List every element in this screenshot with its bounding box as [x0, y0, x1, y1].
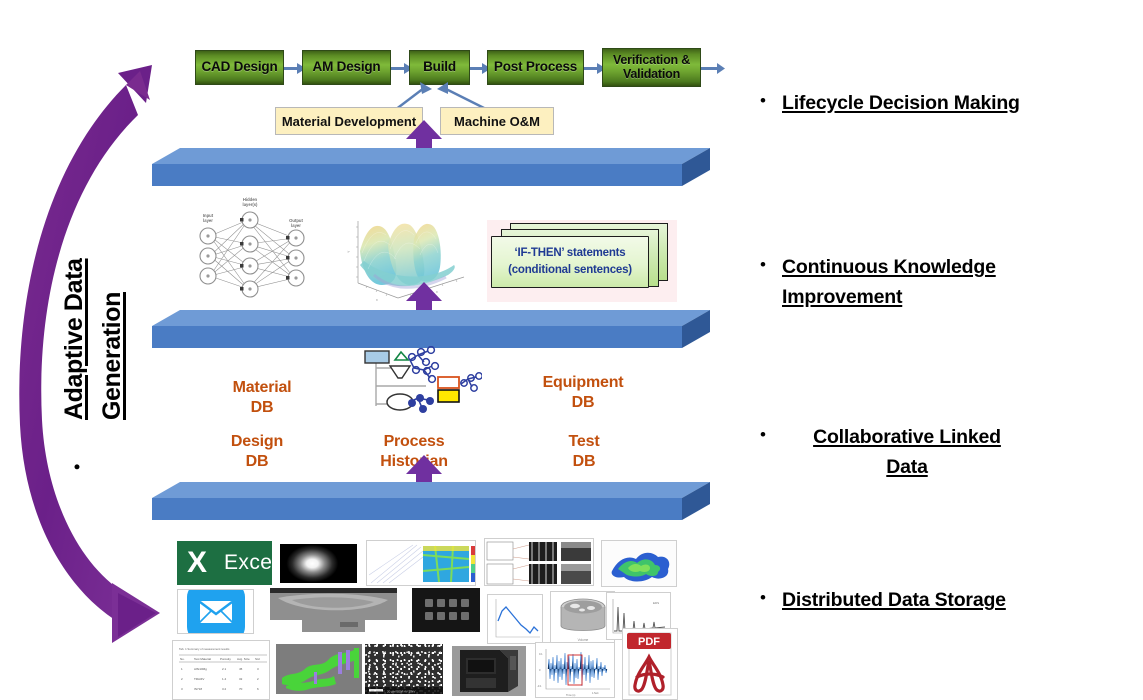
- db-label-design-line1: Design: [207, 432, 307, 452]
- svg-text:Time (s): Time (s): [566, 693, 576, 697]
- svg-text:x: x: [376, 298, 378, 302]
- svg-text:0.1: 0.1: [539, 652, 543, 656]
- svg-text:Porosity: Porosity: [220, 657, 231, 661]
- slide-canvas: Adaptive Data Generation • CAD Design AM…: [0, 0, 1143, 700]
- svg-text:3: 3: [257, 667, 259, 671]
- svg-text:1: 1: [181, 667, 183, 671]
- db-label-design-line2: DB: [207, 452, 307, 472]
- if-then-line2: (conditional sentences): [508, 262, 632, 279]
- process-box-verification-line1: Verification &: [610, 54, 693, 67]
- adaptive-label-bullet: •: [68, 464, 86, 470]
- bullet-dot-1: •: [760, 92, 782, 109]
- adaptive-data-generation-label-2: Generation: [98, 292, 128, 420]
- thumb-am-machine-photo[interactable]: [452, 646, 526, 696]
- process-box-cad-design[interactable]: CAD Design: [195, 50, 284, 85]
- neural-network-diagram: Inputlayer Hiddenlayer(s) Outputlayer: [186, 196, 318, 302]
- svg-text:3: 3: [181, 687, 183, 691]
- process-historian-graphic: [352, 346, 482, 416]
- db-label-equipment-line1: Equipment: [528, 373, 638, 393]
- svg-text:Tab. 1 Summary of measurement: Tab. 1 Summary of measurement results: [179, 647, 230, 651]
- bullet-text-2-line2: Improvement: [782, 282, 996, 312]
- bullet-continuous-knowledge-improvement[interactable]: • Continuous Knowledge Improvement: [760, 252, 1060, 312]
- platform-slab-2: [152, 310, 710, 350]
- svg-text:3.2: 3.2: [222, 687, 227, 691]
- bullet-text-4: Distributed Data Storage: [782, 585, 1006, 615]
- db-label-process-line1: Process: [359, 432, 469, 452]
- svg-text:layer: layer: [203, 218, 213, 223]
- excel-x-glyph: X: [187, 546, 207, 580]
- svg-text:-0.1: -0.1: [537, 684, 542, 688]
- process-box-build-label: Build: [420, 60, 459, 74]
- thumb-thermal-simulation-part[interactable]: [601, 540, 677, 587]
- thumb-excel-logo[interactable]: X Excel: [177, 541, 272, 585]
- process-box-post-process[interactable]: Post Process: [487, 50, 584, 85]
- svg-text:PDF: PDF: [638, 636, 660, 648]
- process-box-build[interactable]: Build: [409, 50, 470, 85]
- bullet-dot-4: •: [760, 589, 782, 606]
- support-box-material-development[interactable]: Material Development: [275, 107, 423, 135]
- db-label-material: Material DB: [212, 378, 312, 417]
- if-then-card-front[interactable]: ‘IF-THEN’ statements (conditional senten…: [491, 236, 649, 288]
- mail-rounded-square: [187, 589, 245, 634]
- svg-text:layer: layer: [291, 223, 301, 228]
- thumb-ct-cross-section[interactable]: [270, 588, 397, 632]
- bullet-text-3-line2: Data: [782, 452, 1032, 482]
- db-label-design: Design DB: [207, 432, 307, 471]
- thumb-melt-pool-image[interactable]: [280, 544, 357, 583]
- thumb-pdf-icon[interactable]: PDF: [622, 628, 678, 700]
- support-box-machine-om[interactable]: Machine O&M: [440, 107, 554, 135]
- thumb-data-table-thumb[interactable]: Tab. 1 Summary of measurement results No…: [172, 640, 270, 700]
- thumb-microstructure-montage[interactable]: [484, 538, 594, 586]
- process-box-am-design[interactable]: AM Design: [302, 50, 391, 85]
- svg-text:2.1: 2.1: [222, 667, 227, 671]
- db-label-test: Test DB: [534, 432, 634, 471]
- svg-text:EDS: EDS: [653, 601, 659, 605]
- thumb-tensile-coupons-photo[interactable]: [412, 588, 480, 632]
- thumb-porosity-map[interactable]: [276, 644, 362, 694]
- thumb-scan-path-plot[interactable]: [366, 540, 476, 586]
- svg-text:Std: Std: [255, 657, 260, 661]
- adaptive-label-line2: Generation: [98, 292, 126, 420]
- svg-text:1.4: 1.4: [222, 677, 227, 681]
- thumb-line-chart-thumb[interactable]: [487, 594, 543, 644]
- db-label-test-line1: Test: [534, 432, 634, 452]
- svg-text:45: 45: [239, 667, 243, 671]
- svg-text:2: 2: [257, 677, 259, 681]
- svg-text:20 µm SEM HV 15kV: 20 µm SEM HV 15kV: [387, 690, 415, 694]
- bullet-distributed-data-storage[interactable]: • Distributed Data Storage: [760, 585, 1110, 615]
- bullet-dot-3: •: [760, 426, 782, 443]
- db-label-material-line1: Material: [212, 378, 312, 398]
- process-box-cad-design-label: CAD Design: [198, 60, 280, 74]
- svg-text:32: 32: [239, 677, 243, 681]
- svg-text:Avg. Size: Avg. Size: [237, 657, 250, 661]
- process-box-verification-validation[interactable]: Verification & Validation: [602, 48, 701, 87]
- bullet-lifecycle-decision-making[interactable]: • Lifecycle Decision Making: [760, 88, 1110, 118]
- db-label-test-line2: DB: [534, 452, 634, 472]
- svg-text:layer(s): layer(s): [243, 202, 259, 207]
- svg-text:70: 70: [239, 687, 243, 691]
- bullet-text-1: Lifecycle Decision Making: [782, 88, 1020, 118]
- bullet-collaborative-linked-data[interactable]: • Collaborative Linked Data: [760, 422, 1050, 482]
- svg-text:AlSi10Mg: AlSi10Mg: [194, 667, 207, 671]
- thumb-email-icon[interactable]: [177, 589, 254, 634]
- db-label-material-line2: DB: [212, 398, 312, 418]
- svg-text:IN718: IN718: [194, 687, 202, 691]
- thumb-sem-micrograph[interactable]: 20 µm SEM HV 15kV: [365, 644, 443, 694]
- bullet-text-3-line1: Collaborative Linked: [782, 422, 1032, 452]
- db-label-equipment-line2: DB: [528, 393, 638, 413]
- platform-slab-3: [152, 482, 710, 522]
- process-box-post-process-label: Post Process: [491, 60, 580, 74]
- if-then-line1: ‘IF-THEN’ statements: [508, 245, 632, 262]
- svg-text:6: 6: [257, 687, 259, 691]
- thumb-acoustic-signal-plot[interactable]: 0.10-0.1 Time (s)1.5e4: [535, 642, 615, 698]
- excel-wordmark: Excel: [224, 551, 272, 575]
- support-box-material-development-label: Material Development: [282, 114, 416, 129]
- adaptive-data-generation-label: Adaptive Data: [60, 258, 90, 420]
- db-label-equipment: Equipment DB: [528, 373, 638, 412]
- svg-text:1.5e4: 1.5e4: [592, 691, 599, 695]
- bullet-text-2-line1: Continuous Knowledge: [782, 252, 996, 282]
- if-then-card-stack: ‘IF-THEN’ statements (conditional senten…: [487, 220, 677, 302]
- svg-text:Ti6Al4V: Ti6Al4V: [194, 677, 204, 681]
- support-box-machine-om-label: Machine O&M: [454, 114, 540, 129]
- adaptive-label-line1: Adaptive Data: [60, 258, 88, 420]
- curved-purple-arrow: [0, 45, 180, 655]
- svg-text:2: 2: [181, 677, 183, 681]
- svg-text:Test Material: Test Material: [194, 657, 211, 661]
- svg-text:No.: No.: [180, 657, 185, 661]
- surface-plot-3d: Y xx: [336, 205, 468, 303]
- platform-slab-1: [152, 148, 710, 188]
- svg-text:Y: Y: [347, 250, 351, 253]
- process-box-am-design-label: AM Design: [310, 60, 384, 74]
- bullet-dot-2: •: [760, 256, 782, 273]
- process-box-verification-line2: Validation: [620, 68, 683, 81]
